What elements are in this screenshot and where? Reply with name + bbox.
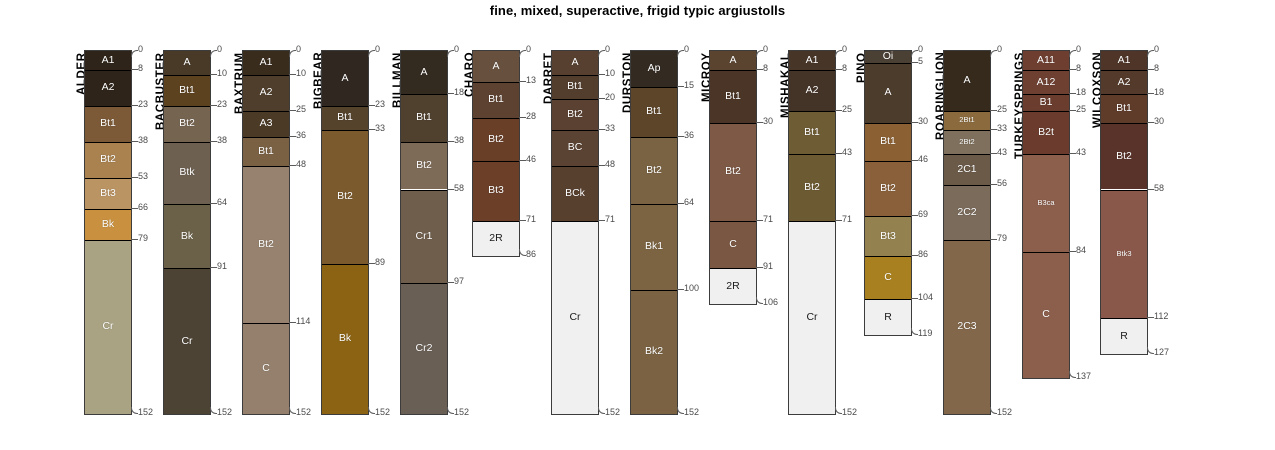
horizon-boundary-line [865, 63, 911, 64]
depth-tick-label: 43 [1076, 148, 1086, 157]
horizon-segment[interactable]: Bk [322, 264, 368, 414]
horizon-segment[interactable]: Bt2 [401, 142, 447, 190]
depth-tick-label: 152 [296, 408, 311, 417]
horizon-boundary-line [1101, 94, 1147, 95]
horizon-label: Btk3 [1116, 250, 1131, 258]
depth-tick-label: 46 [526, 155, 536, 164]
depth-tick-label: 36 [684, 131, 694, 140]
horizon-boundary-line [1101, 123, 1147, 124]
depth-tick-mark [990, 239, 997, 240]
horizon-segment[interactable]: A2 [1101, 70, 1147, 94]
horizon-boundary-line [85, 70, 131, 71]
horizon-segment[interactable]: B1 [1023, 94, 1069, 111]
horizon-segment[interactable]: 2Bt1 [944, 111, 990, 130]
horizon-label: A [963, 75, 970, 86]
horizon-segment[interactable]: Cr [789, 221, 835, 414]
horizon-label: Bt1 [337, 112, 353, 123]
horizon-boundary-line [85, 209, 131, 210]
depth-tick-mark [131, 239, 138, 240]
horizon-boundary-line [944, 111, 990, 112]
horizon-label: Oi [883, 51, 894, 62]
horizon-segment[interactable]: A1 [1101, 51, 1147, 70]
horizon-label: Bt1 [1116, 103, 1132, 114]
depth-tick-mark [1147, 69, 1154, 70]
depth-tick-label: 23 [375, 100, 385, 109]
horizon-label: A [884, 87, 891, 98]
depth-tick-label: 106 [763, 298, 778, 307]
horizon-segment[interactable]: Bk1 [631, 204, 677, 290]
horizon-segment[interactable]: A [710, 51, 756, 70]
depth-tick-mark [835, 153, 842, 154]
depth-tick-label: 0 [138, 45, 143, 54]
depth-tick-mark [1069, 153, 1076, 154]
horizon-segment[interactable]: A2 [243, 75, 289, 111]
horizon-label: Cr [102, 321, 113, 332]
depth-tick-label: 46 [918, 155, 928, 164]
horizon-segment[interactable]: A11 [1023, 51, 1069, 70]
profile-column-body: ApBt1Bt2Bk1Bk2 [630, 50, 678, 415]
depth-tick-label: 0 [605, 45, 610, 54]
horizon-label: A [420, 67, 427, 78]
horizon-segment[interactable]: A12 [1023, 70, 1069, 94]
depth-tick-mark [1147, 317, 1154, 318]
horizon-label: B3ca [1037, 199, 1054, 207]
horizon-segment[interactable]: A1 [789, 51, 835, 70]
depth-tick-mark [447, 189, 454, 190]
depth-tick-mark [756, 69, 763, 70]
depth-tick-label: 79 [138, 234, 148, 243]
horizon-segment[interactable]: 2R [710, 268, 756, 304]
horizon-label: 2Bt1 [959, 116, 974, 124]
horizon-segment[interactable]: Bt2 [473, 118, 519, 161]
horizon-segment[interactable]: Bt1 [164, 75, 210, 106]
horizon-segment[interactable]: 2C3 [944, 240, 990, 414]
depth-tick-mark [1147, 93, 1154, 94]
profile-column-body: ABt1Bt2Cr1Cr2 [400, 50, 448, 415]
depth-tick-label: 91 [217, 262, 227, 271]
horizon-label: Bt2 [880, 183, 896, 194]
depth-tick-mark [368, 105, 375, 106]
horizon-segment[interactable]: Bt1 [322, 106, 368, 130]
depth-tick-label: 152 [375, 408, 390, 417]
horizon-boundary-line [631, 204, 677, 205]
depth-tick-label: 152 [997, 408, 1012, 417]
horizon-boundary-line [944, 185, 990, 186]
horizon-segment[interactable]: R [1101, 318, 1147, 354]
horizon-segment[interactable]: Bt1 [473, 82, 519, 118]
horizon-boundary-line [1023, 154, 1069, 155]
depth-tick-mark [210, 74, 217, 75]
depth-tick-mark [911, 50, 918, 57]
depth-tick-mark [519, 81, 526, 82]
depth-tick-label: 0 [217, 45, 222, 54]
horizon-segment[interactable]: A1 [85, 51, 131, 70]
horizon-boundary-line [944, 130, 990, 131]
horizon-segment[interactable]: Bt2 [789, 154, 835, 221]
horizon-boundary-line [710, 221, 756, 222]
horizon-segment[interactable]: Bt2 [710, 123, 756, 221]
depth-tick-label: 97 [454, 277, 464, 286]
horizon-label: Bt2 [1116, 151, 1132, 162]
depth-tick-mark [131, 407, 138, 414]
depth-tick-mark [677, 136, 684, 137]
horizon-label: Btk [179, 167, 194, 178]
horizon-boundary-line [473, 221, 519, 222]
depth-tick-label: 10 [217, 69, 227, 78]
horizon-label: 2C1 [957, 164, 976, 175]
horizon-label: C [884, 272, 892, 283]
horizon-segment[interactable]: A [944, 51, 990, 111]
depth-tick-label: 0 [842, 45, 847, 54]
depth-tick-label: 10 [605, 69, 615, 78]
depth-tick-mark [1147, 189, 1154, 190]
horizon-label: Cr1 [416, 231, 433, 242]
depth-tick-mark [210, 203, 217, 204]
profile-column-body: A2Bt12Bt22C12C22C3 [943, 50, 991, 415]
horizon-segment[interactable]: Ap [631, 51, 677, 87]
horizon-boundary-line [789, 154, 835, 155]
depth-tick-label: 127 [1154, 348, 1169, 357]
profile-column-body: ABt1Bt2C2R [709, 50, 757, 305]
horizon-boundary-line [789, 221, 835, 222]
horizon-label: A1 [806, 55, 819, 66]
depth-tick-label: 23 [138, 100, 148, 109]
horizon-label: A2 [102, 82, 115, 93]
depth-tick-mark [756, 122, 763, 123]
depth-tick-mark [598, 74, 605, 75]
horizon-segment[interactable]: Cr2 [401, 283, 447, 414]
horizon-segment[interactable]: Btk [164, 142, 210, 204]
depth-tick-label: 86 [526, 250, 536, 259]
horizon-label: R [1120, 331, 1128, 342]
horizon-segment[interactable]: A [164, 51, 210, 75]
profile-column-body: ABt1Bt2BCBCkCr [551, 50, 599, 415]
depth-tick-label: 28 [526, 112, 536, 121]
depth-tick-label: 56 [997, 179, 1007, 188]
horizon-label: Bt1 [179, 85, 195, 96]
horizon-segment[interactable]: A [865, 63, 911, 123]
horizon-label: A12 [1037, 77, 1056, 88]
horizon-label: Bt2 [567, 109, 583, 120]
horizon-label: Bt1 [880, 136, 896, 147]
horizon-segment[interactable]: R [865, 299, 911, 335]
horizon-label: C [1042, 309, 1050, 320]
depth-tick-label: 25 [1076, 105, 1086, 114]
soil-profiles-container: ALDERA1A2Bt1Bt2Bt3BkCr082338536679152BAC… [0, 0, 1275, 450]
profile-column-body: ABt1Bt2BtkBkCr [163, 50, 211, 415]
depth-tick-mark [756, 297, 763, 304]
horizon-boundary-line [865, 216, 911, 217]
depth-tick-mark [756, 220, 763, 221]
depth-tick-label: 38 [138, 136, 148, 145]
horizon-segment[interactable]: A2 [789, 70, 835, 111]
depth-tick-mark [1069, 371, 1076, 378]
depth-tick-label: 38 [454, 136, 464, 145]
horizon-label: A [571, 57, 578, 68]
horizon-segment[interactable]: Btk3 [1101, 190, 1147, 319]
horizon-segment[interactable]: A2 [85, 70, 131, 106]
horizon-boundary-line [552, 166, 598, 167]
horizon-label: Bt1 [646, 106, 662, 117]
horizon-boundary-line [631, 290, 677, 291]
horizon-label: Bt2 [804, 182, 820, 193]
depth-tick-mark [447, 282, 454, 283]
depth-tick-label: 91 [763, 262, 773, 271]
depth-tick-mark [990, 110, 997, 111]
horizon-segment[interactable]: Bt2 [865, 161, 911, 216]
horizon-boundary-line [243, 111, 289, 112]
horizon-segment[interactable]: Bt2 [1101, 123, 1147, 190]
horizon-label: Bt2 [337, 191, 353, 202]
horizon-segment[interactable]: A1 [243, 51, 289, 75]
horizon-label: A [492, 61, 499, 72]
depth-tick-mark [835, 220, 842, 221]
depth-tick-mark [368, 263, 375, 264]
horizon-segment[interactable]: C [865, 256, 911, 299]
horizon-label: 2R [726, 281, 739, 292]
horizon-segment[interactable]: Bt1 [631, 87, 677, 137]
horizon-label: Bt2 [646, 165, 662, 176]
horizon-segment[interactable]: A3 [243, 111, 289, 137]
horizon-segment[interactable]: A [552, 51, 598, 75]
horizon-label: C [262, 363, 270, 374]
horizon-boundary-line [322, 106, 368, 107]
horizon-segment[interactable]: BCk [552, 166, 598, 221]
depth-tick-label: 152 [138, 408, 153, 417]
horizon-boundary-line [1023, 111, 1069, 112]
depth-tick-label: 25 [842, 105, 852, 114]
depth-tick-label: 104 [918, 293, 933, 302]
depth-tick-mark [911, 160, 918, 161]
horizon-boundary-line [1101, 318, 1147, 319]
horizon-label: Bt1 [258, 146, 274, 157]
depth-tick-mark [289, 74, 296, 75]
horizon-segment[interactable]: B3ca [1023, 154, 1069, 252]
profile-column-body: A1A2Bt1Bt2Btk3R [1100, 50, 1148, 355]
horizon-segment[interactable]: 2C1 [944, 154, 990, 185]
horizon-label: A2 [1118, 77, 1131, 88]
horizon-label: Ap [648, 63, 661, 74]
horizon-boundary-line [164, 106, 210, 107]
horizon-boundary-line [789, 111, 835, 112]
horizon-boundary-line [865, 299, 911, 300]
horizon-segment[interactable]: Bt1 [710, 70, 756, 123]
horizon-label: Bk [102, 219, 114, 230]
horizon-label: A2 [806, 85, 819, 96]
depth-tick-mark [1147, 50, 1154, 57]
horizon-label: Bk1 [645, 241, 663, 252]
depth-tick-mark [598, 165, 605, 166]
horizon-label: A [729, 55, 736, 66]
depth-tick-label: 137 [1076, 372, 1091, 381]
horizon-label: Cr2 [416, 343, 433, 354]
horizon-segment[interactable]: Oi [865, 51, 911, 63]
depth-tick-mark [756, 267, 763, 268]
horizon-boundary-line [1101, 190, 1147, 191]
depth-tick-label: 8 [1076, 64, 1081, 73]
depth-tick-label: 36 [296, 131, 306, 140]
horizon-label: A1 [260, 57, 273, 68]
horizon-segment[interactable]: A [401, 51, 447, 94]
horizon-boundary-line [401, 283, 447, 284]
depth-tick-label: 0 [997, 45, 1002, 54]
depth-tick-mark [677, 203, 684, 204]
depth-tick-label: 0 [526, 45, 531, 54]
depth-tick-label: 8 [1154, 64, 1159, 73]
horizon-boundary-line [243, 75, 289, 76]
horizon-boundary-line [243, 166, 289, 167]
depth-tick-mark [1147, 347, 1154, 354]
horizon-segment[interactable]: Bt2 [85, 142, 131, 178]
horizon-segment[interactable]: Bt2 [243, 166, 289, 324]
depth-tick-mark [835, 407, 842, 414]
depth-tick-mark [210, 50, 217, 57]
depth-tick-label: 33 [375, 124, 385, 133]
horizon-boundary-line [710, 70, 756, 71]
depth-tick-mark [519, 160, 526, 161]
depth-tick-label: 0 [296, 45, 301, 54]
depth-tick-label: 53 [138, 172, 148, 181]
depth-tick-mark [990, 407, 997, 414]
horizon-segment[interactable]: 2Bt2 [944, 130, 990, 154]
horizon-label: B2t [1038, 127, 1054, 138]
depth-tick-label: 119 [918, 329, 932, 338]
horizon-segment[interactable]: BC [552, 130, 598, 166]
depth-tick-mark [289, 136, 296, 137]
depth-tick-label: 64 [684, 198, 694, 207]
depth-tick-label: 5 [918, 57, 923, 66]
horizon-segment[interactable]: Bt3 [473, 161, 519, 221]
horizon-segment[interactable]: C [710, 221, 756, 269]
horizon-boundary-line [552, 75, 598, 76]
horizon-segment[interactable]: Bt1 [789, 111, 835, 154]
horizon-boundary-line [1023, 70, 1069, 71]
horizon-segment[interactable]: B2t [1023, 111, 1069, 154]
horizon-segment[interactable]: Bt1 [1101, 94, 1147, 123]
horizon-boundary-line [322, 130, 368, 131]
horizon-segment[interactable]: 2R [473, 221, 519, 257]
horizon-segment[interactable]: Bt1 [243, 137, 289, 166]
horizon-segment[interactable]: C [1023, 252, 1069, 379]
depth-tick-mark [990, 184, 997, 185]
horizon-label: Bk [181, 231, 193, 242]
depth-tick-label: 152 [217, 408, 232, 417]
horizon-segment[interactable]: Bt2 [164, 106, 210, 142]
depth-tick-mark [131, 105, 138, 106]
horizon-label: Bt2 [258, 239, 274, 250]
depth-tick-label: 152 [842, 408, 857, 417]
depth-tick-mark [131, 141, 138, 142]
horizon-segment[interactable]: Bt2 [552, 99, 598, 130]
depth-tick-mark [447, 141, 454, 142]
horizon-label: Bt3 [100, 188, 116, 199]
depth-tick-label: 8 [138, 64, 143, 73]
horizon-segment[interactable]: A [473, 51, 519, 82]
profile-column-body: A1A2A3Bt1Bt2C [242, 50, 290, 415]
horizon-segment[interactable]: C [243, 323, 289, 414]
horizon-label: B1 [1040, 97, 1053, 108]
depth-tick-mark [210, 141, 217, 142]
depth-tick-label: 100 [684, 284, 699, 293]
horizon-boundary-line [1101, 70, 1147, 71]
horizon-boundary-line [631, 137, 677, 138]
horizon-segment[interactable]: Cr [85, 240, 131, 414]
horizon-boundary-line [401, 142, 447, 143]
horizon-label: Cr [569, 312, 580, 323]
depth-tick-mark [835, 110, 842, 111]
horizon-boundary-line [85, 142, 131, 143]
horizon-boundary-line [865, 161, 911, 162]
horizon-segment[interactable]: A [322, 51, 368, 106]
depth-tick-label: 38 [217, 136, 227, 145]
depth-tick-label: 48 [605, 160, 615, 169]
depth-tick-mark [677, 50, 684, 57]
depth-tick-mark [1069, 50, 1076, 57]
horizon-boundary-line [164, 142, 210, 143]
horizon-segment[interactable]: Bt1 [401, 94, 447, 142]
depth-tick-label: 71 [526, 215, 536, 224]
depth-tick-label: 25 [296, 105, 306, 114]
depth-tick-label: 30 [918, 117, 928, 126]
depth-tick-label: 0 [684, 45, 689, 54]
horizon-segment[interactable]: Bt2 [631, 137, 677, 204]
horizon-segment[interactable]: Bt3 [85, 178, 131, 209]
horizon-segment[interactable]: Bk [164, 204, 210, 268]
horizon-label: Cr [181, 336, 192, 347]
horizon-segment[interactable]: Cr [552, 221, 598, 414]
depth-tick-mark [1069, 69, 1076, 70]
horizon-segment[interactable]: Bt1 [865, 123, 911, 161]
depth-tick-mark [677, 86, 684, 87]
depth-tick-label: 8 [763, 64, 768, 73]
depth-tick-label: 0 [454, 45, 459, 54]
depth-tick-label: 89 [375, 258, 385, 267]
horizon-label: Bt3 [488, 185, 504, 196]
horizon-segment[interactable]: Bk [85, 209, 131, 240]
horizon-label: Bk [339, 333, 351, 344]
depth-tick-mark [598, 407, 605, 414]
depth-tick-mark [131, 208, 138, 209]
depth-tick-mark [368, 407, 375, 414]
horizon-segment[interactable]: Bk2 [631, 290, 677, 414]
horizon-segment[interactable]: Bt1 [552, 75, 598, 99]
horizon-label: 2C3 [957, 321, 976, 332]
depth-tick-mark [677, 407, 684, 414]
depth-tick-mark [289, 110, 296, 111]
depth-tick-mark [210, 407, 217, 414]
horizon-segment[interactable]: Cr [164, 268, 210, 414]
horizon-segment[interactable]: 2C2 [944, 185, 990, 240]
depth-tick-mark [519, 117, 526, 118]
horizon-segment[interactable]: Cr1 [401, 190, 447, 283]
horizon-boundary-line [473, 82, 519, 83]
depth-tick-label: 58 [1154, 184, 1164, 193]
depth-tick-mark [368, 50, 375, 57]
depth-tick-label: 13 [526, 76, 536, 85]
horizon-boundary-line [944, 154, 990, 155]
horizon-segment[interactable]: Bt3 [865, 216, 911, 257]
depth-tick-mark [447, 93, 454, 94]
depth-tick-label: 66 [138, 203, 148, 212]
horizon-segment[interactable]: Bt1 [85, 106, 131, 142]
horizon-segment[interactable]: Bt2 [322, 130, 368, 264]
depth-tick-mark [911, 62, 918, 63]
depth-tick-label: 86 [918, 250, 928, 259]
depth-tick-label: 20 [605, 93, 615, 102]
depth-tick-label: 64 [217, 198, 227, 207]
horizon-boundary-line [401, 94, 447, 95]
depth-tick-mark [911, 298, 918, 299]
